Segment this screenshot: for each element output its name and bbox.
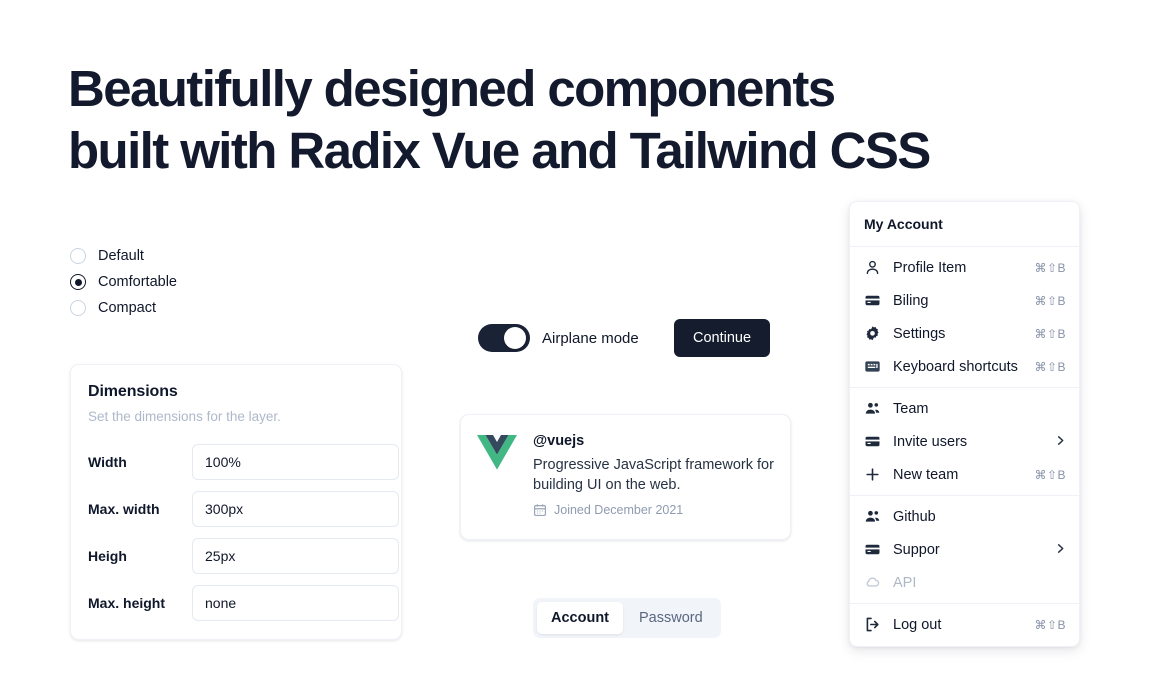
plus-icon xyxy=(864,466,881,483)
menu-label-invite-users: Invite users xyxy=(893,434,1043,450)
chevron-right-icon xyxy=(1055,543,1066,556)
menu-item-log-out[interactable]: Log out ⌘⇧B xyxy=(850,608,1079,641)
field-row-max-width: Max. width xyxy=(88,491,384,527)
radio-label-compact: Compact xyxy=(98,300,156,316)
calendar-icon xyxy=(533,503,547,517)
field-row-width: Width xyxy=(88,444,384,480)
menu-item-invite-users[interactable]: Invite users xyxy=(850,425,1079,458)
menu-separator xyxy=(850,387,1079,388)
radio-label-comfortable: Comfortable xyxy=(98,274,177,290)
joined-row: Joined December 2021 xyxy=(533,503,774,517)
menu-shortcut-log-out: ⌘⇧B xyxy=(1034,618,1066,632)
airplane-mode-row: Airplane mode xyxy=(478,324,639,352)
menu-separator xyxy=(850,495,1079,496)
menu-item-keyboard-shortcuts[interactable]: Keyboard shortcuts ⌘⇧B xyxy=(850,350,1079,383)
page-title-line-1: Beautifully designed components xyxy=(68,58,1028,120)
radio-indicator-comfortable[interactable] xyxy=(70,274,86,290)
field-row-height: Heigh xyxy=(88,538,384,574)
menu-label-github: Github xyxy=(893,509,1054,525)
dimensions-title: Dimensions xyxy=(88,383,384,401)
cloud-icon xyxy=(864,574,881,591)
field-label-width: Width xyxy=(88,454,192,470)
field-row-max-height: Max. height xyxy=(88,585,384,621)
menu-label-log-out: Log out xyxy=(893,617,1022,633)
menu-shortcut-keyboard-shortcuts: ⌘⇧B xyxy=(1034,360,1066,374)
menu-shortcut-billing: ⌘⇧B xyxy=(1034,294,1066,308)
credit-card-icon xyxy=(864,433,881,450)
menu-label-team: Team xyxy=(893,401,1054,417)
dimensions-subtitle: Set the dimensions for the layer. xyxy=(88,409,384,424)
menu-item-api: API xyxy=(850,566,1079,599)
menu-item-team[interactable]: Team xyxy=(850,392,1079,425)
menu-label-new-team: New team xyxy=(893,467,1022,483)
max-height-input[interactable] xyxy=(192,585,399,621)
settings-tabs: Account Password xyxy=(533,598,721,638)
account-dropdown-menu: My Account Profile Item ⌘⇧B Biling xyxy=(849,201,1080,647)
page-title-line-2: built with Radix Vue and Tailwind CSS xyxy=(68,120,1028,182)
field-label-max-width: Max. width xyxy=(88,501,192,517)
radio-indicator-default[interactable] xyxy=(70,248,86,264)
tab-account[interactable]: Account xyxy=(537,602,623,634)
user-icon xyxy=(864,259,881,276)
menu-label-settings: Settings xyxy=(893,326,1022,342)
vue-hover-card: @vuejs Progressive JavaScript framework … xyxy=(460,414,791,540)
density-radio-group: Default Comfortable Compact xyxy=(70,248,177,316)
vue-logo-icon xyxy=(477,435,517,471)
vue-description: Progressive JavaScript framework for bui… xyxy=(533,455,774,495)
menu-item-new-team[interactable]: New team ⌘⇧B xyxy=(850,458,1079,491)
menu-shortcut-profile: ⌘⇧B xyxy=(1034,261,1066,275)
keyboard-icon xyxy=(864,358,881,375)
airplane-mode-switch[interactable] xyxy=(478,324,530,352)
menu-shortcut-new-team: ⌘⇧B xyxy=(1034,468,1066,482)
menu-label-profile: Profile Item xyxy=(893,260,1022,276)
dimensions-card: Dimensions Set the dimensions for the la… xyxy=(70,364,402,640)
credit-card-icon xyxy=(864,541,881,558)
menu-item-profile[interactable]: Profile Item ⌘⇧B xyxy=(850,251,1079,284)
menu-label-keyboard-shortcuts: Keyboard shortcuts xyxy=(893,359,1022,375)
vue-handle: @vuejs xyxy=(533,433,774,449)
hover-card-body: @vuejs Progressive JavaScript framework … xyxy=(533,433,774,521)
menu-label-api: API xyxy=(893,575,1054,591)
menu-item-billing[interactable]: Biling ⌘⇧B xyxy=(850,284,1079,317)
field-label-max-height: Max. height xyxy=(88,595,192,611)
menu-label-support: Suppor xyxy=(893,542,1043,558)
menu-item-support[interactable]: Suppor xyxy=(850,533,1079,566)
airplane-mode-label: Airplane mode xyxy=(542,330,639,347)
radio-option-default[interactable]: Default xyxy=(70,248,177,264)
menu-item-github[interactable]: Github xyxy=(850,500,1079,533)
field-label-height: Heigh xyxy=(88,548,192,564)
width-input[interactable] xyxy=(192,444,399,480)
credit-card-icon xyxy=(864,292,881,309)
radio-option-compact[interactable]: Compact xyxy=(70,300,177,316)
menu-separator xyxy=(850,246,1079,247)
menu-label-billing: Biling xyxy=(893,293,1022,309)
chevron-right-icon xyxy=(1055,435,1066,448)
page-title: Beautifully designed components built wi… xyxy=(68,58,1028,182)
tab-password[interactable]: Password xyxy=(625,602,717,634)
menu-item-settings[interactable]: Settings ⌘⇧B xyxy=(850,317,1079,350)
menu-header: My Account xyxy=(850,207,1079,242)
menu-shortcut-settings: ⌘⇧B xyxy=(1034,327,1066,341)
continue-button[interactable]: Continue xyxy=(674,319,770,357)
joined-text: Joined December 2021 xyxy=(554,503,683,517)
radio-label-default: Default xyxy=(98,248,144,264)
radio-option-comfortable[interactable]: Comfortable xyxy=(70,274,177,290)
logout-icon xyxy=(864,616,881,633)
page-root: Beautifully designed components built wi… xyxy=(0,0,1152,700)
gear-icon xyxy=(864,325,881,342)
menu-separator xyxy=(850,603,1079,604)
height-input[interactable] xyxy=(192,538,399,574)
users-icon xyxy=(864,400,881,417)
switch-knob xyxy=(504,327,526,349)
dimensions-fields: Width Max. width Heigh Max. height xyxy=(88,444,384,621)
max-width-input[interactable] xyxy=(192,491,399,527)
users-icon xyxy=(864,508,881,525)
radio-indicator-compact[interactable] xyxy=(70,300,86,316)
